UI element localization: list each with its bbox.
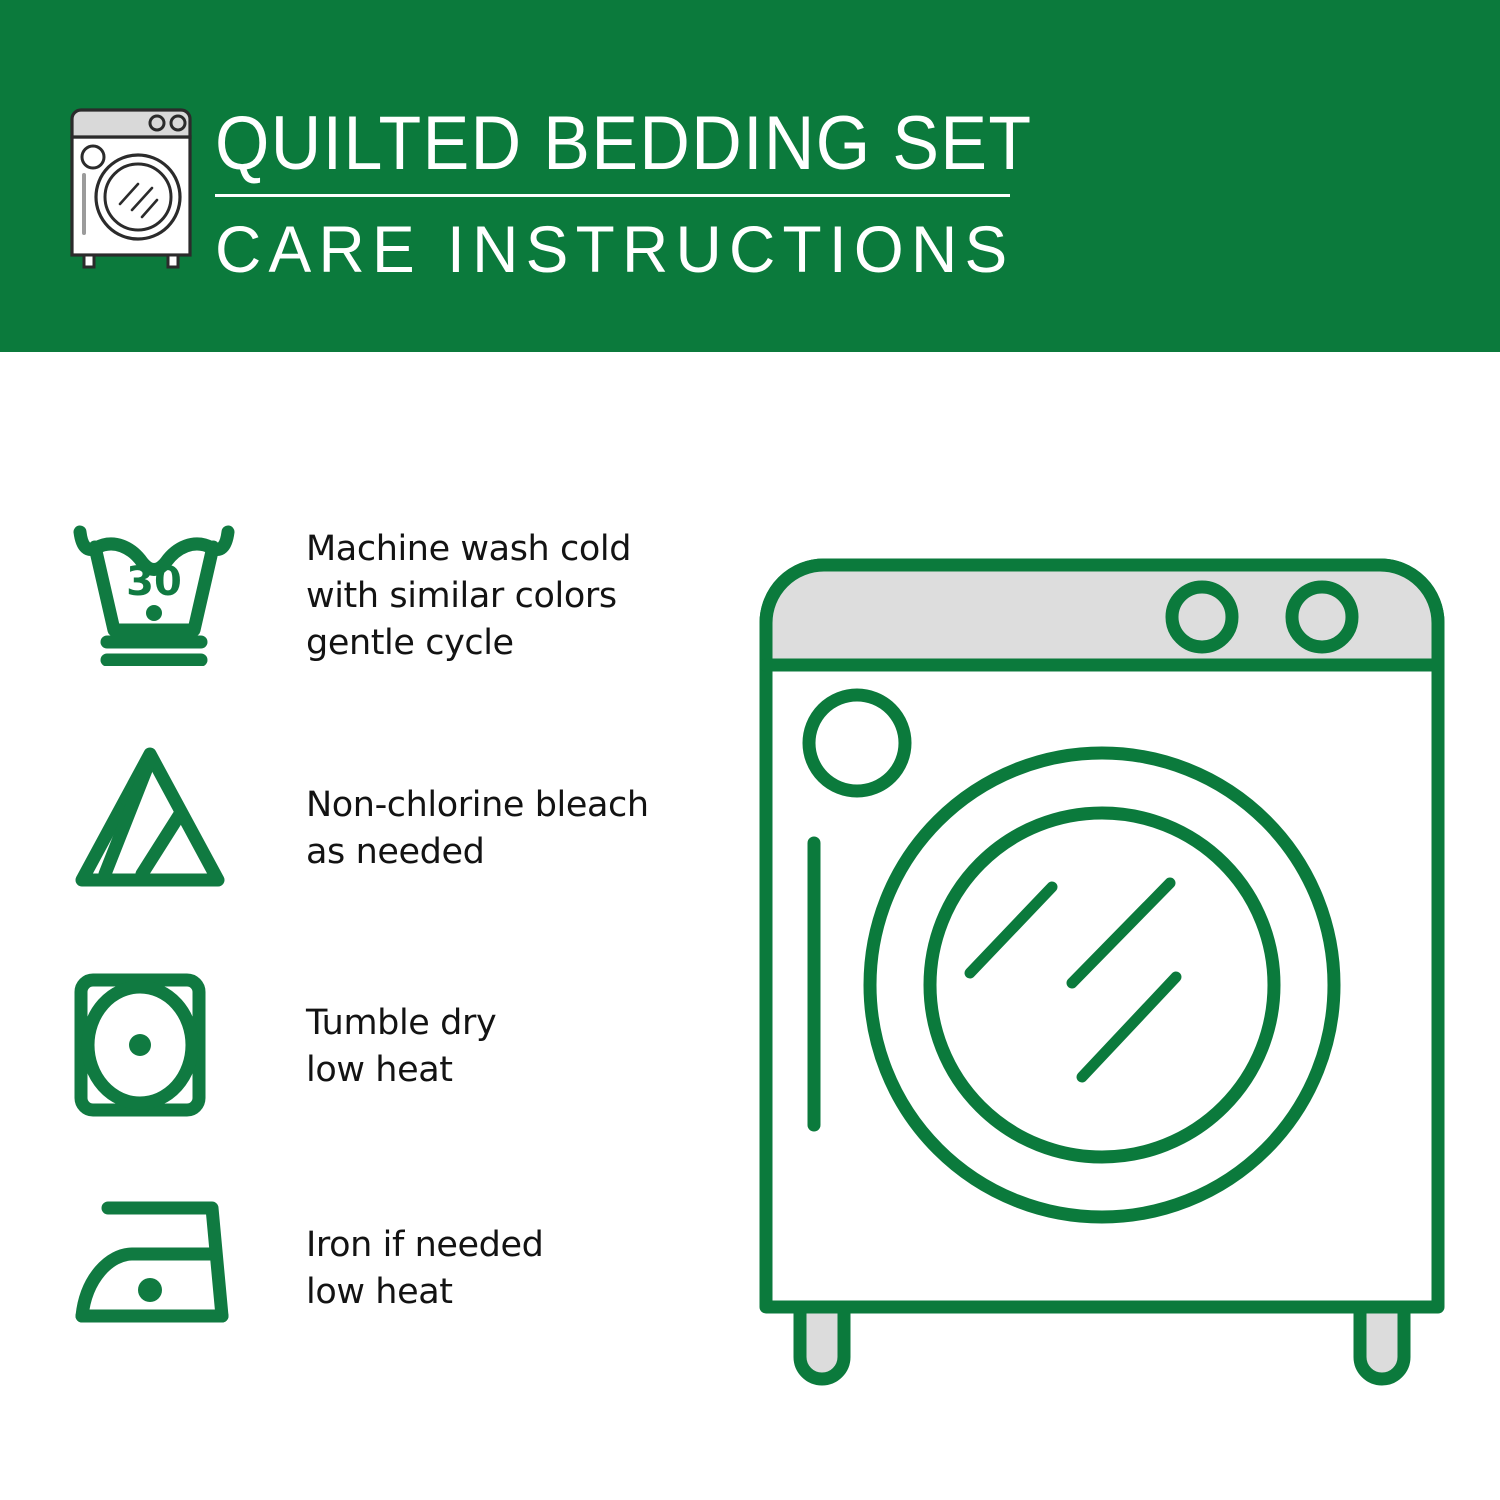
wash-temperature-value: 30 — [126, 559, 182, 605]
care-text-line: Tumble dry — [306, 1000, 710, 1047]
leg-left — [800, 1305, 844, 1379]
header-band: QUILTED BEDDING SET CARE INSTRUCTIONS — [0, 0, 1500, 352]
leg-right — [1360, 1305, 1404, 1379]
care-row-dry: Tumble dry low heat — [70, 964, 710, 1186]
care-text-line: low heat — [306, 1269, 710, 1316]
care-instruction-list: 30 Machine wash cold with similar colors… — [70, 512, 710, 1410]
care-text-bleach: Non-chlorine bleach as needed — [240, 736, 710, 876]
title-divider — [215, 194, 1010, 197]
tumble-dry-low-heat-icon — [70, 964, 240, 1124]
care-text-iron: Iron if needed low heat — [240, 1186, 710, 1316]
care-text-line: Non-chlorine bleach — [306, 782, 710, 829]
care-text-line: Iron if needed — [306, 1222, 710, 1269]
knob-left — [1172, 587, 1232, 647]
care-text-line: low heat — [306, 1047, 710, 1094]
care-text-line: with similar colors — [306, 573, 710, 620]
wash-tub-30-gentle-icon: 30 — [70, 512, 240, 672]
care-text-dry: Tumble dry low heat — [240, 964, 710, 1094]
care-instructions-page: QUILTED BEDDING SET CARE INSTRUCTIONS — [0, 0, 1500, 1500]
detergent-dispenser — [809, 695, 905, 791]
care-row-iron: Iron if needed low heat — [70, 1186, 710, 1410]
care-row-bleach: Non-chlorine bleach as needed — [70, 736, 710, 964]
knob-right — [1292, 587, 1352, 647]
care-text-line: Machine wash cold — [306, 526, 710, 573]
care-text-line: as needed — [306, 829, 710, 876]
header-text-block: QUILTED BEDDING SET CARE INSTRUCTIONS — [215, 104, 1035, 285]
front-load-washing-machine-illustration — [752, 505, 1452, 1425]
page-subtitle: CARE INSTRUCTIONS — [215, 213, 1010, 285]
care-row-wash: 30 Machine wash cold with similar colors… — [70, 512, 710, 736]
iron-low-heat-icon — [70, 1186, 240, 1346]
door-inner-ring — [930, 813, 1274, 1157]
care-text-wash: Machine wash cold with similar colors ge… — [240, 512, 710, 667]
washing-machine-icon — [62, 105, 202, 270]
care-text-line: gentle cycle — [306, 620, 710, 667]
page-title: QUILTED BEDDING SET — [215, 104, 969, 184]
non-chlorine-bleach-triangle-icon — [70, 736, 240, 896]
